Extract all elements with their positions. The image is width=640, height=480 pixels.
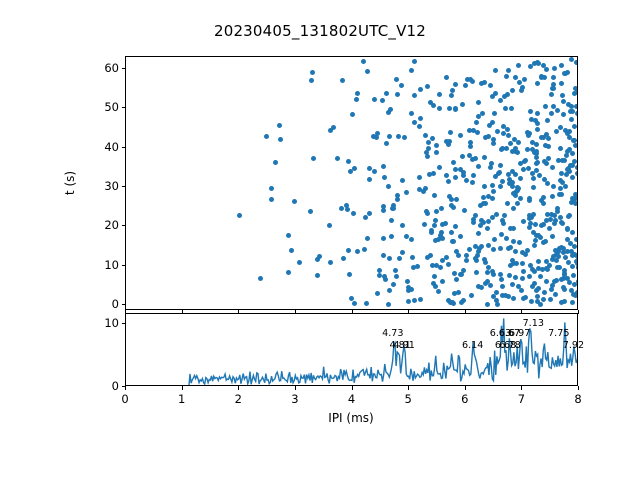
- scatter-point: [560, 180, 565, 185]
- scatter-point: [562, 287, 567, 292]
- scatter-point: [483, 135, 488, 140]
- scatter-point: [528, 109, 533, 114]
- scatter-point: [450, 88, 455, 93]
- y-tick-label: 60: [77, 61, 119, 75]
- scatter-point: [547, 226, 552, 231]
- scatter-point: [519, 288, 524, 293]
- scatter-point: [351, 211, 356, 216]
- scatter-point: [471, 217, 476, 222]
- scatter-point: [495, 129, 500, 134]
- scatter-point: [571, 273, 576, 278]
- scatter-point: [354, 97, 359, 102]
- scatter-point: [418, 116, 423, 121]
- scatter-point: [565, 237, 570, 242]
- scatter-point: [516, 63, 521, 68]
- scatter-point: [476, 284, 481, 289]
- scatter-point: [406, 299, 411, 304]
- scatter-point: [534, 161, 539, 166]
- scatter-point: [498, 184, 503, 189]
- scatter-point: [452, 271, 457, 276]
- x-tick-label: 0: [121, 392, 128, 406]
- scatter-point: [449, 230, 454, 235]
- scatter-point: [311, 156, 316, 161]
- scatter-point: [372, 97, 377, 102]
- scatter-point: [513, 75, 518, 80]
- scatter-point: [575, 165, 578, 170]
- scatter-point: [289, 248, 294, 253]
- scatter-point: [436, 289, 441, 294]
- scatter-point: [412, 120, 417, 125]
- scatter-point: [452, 291, 457, 296]
- scatter-point: [402, 135, 407, 140]
- scatter-point: [521, 219, 526, 224]
- scatter-point: [558, 215, 563, 220]
- scatter-point: [490, 183, 495, 188]
- x-tick-mark: [521, 386, 522, 390]
- peak-annotation-label: 7.75: [548, 329, 569, 339]
- scatter-point: [439, 230, 444, 235]
- scatter-point: [505, 92, 510, 97]
- scatter-point: [571, 292, 576, 297]
- scatter-y-axis-label: t (s): [63, 171, 77, 195]
- scatter-point: [381, 164, 386, 169]
- y-tick-label: 0: [77, 297, 119, 311]
- scatter-point: [576, 265, 578, 270]
- scatter-point: [570, 109, 575, 114]
- scatter-point: [437, 92, 442, 97]
- scatter-point: [559, 171, 564, 176]
- scatter-point: [406, 285, 411, 290]
- scatter-point: [491, 137, 496, 142]
- scatter-point: [572, 124, 577, 129]
- x-tick-mark: [295, 386, 296, 390]
- scatter-point: [344, 203, 349, 208]
- scatter-point: [534, 155, 539, 160]
- scatter-point: [570, 253, 575, 258]
- scatter-point: [554, 278, 559, 283]
- scatter-point: [485, 226, 490, 231]
- scatter-point: [286, 233, 291, 238]
- scatter-point: [485, 302, 490, 307]
- scatter-point: [538, 274, 543, 279]
- scatter-point: [469, 293, 474, 298]
- scatter-point: [510, 184, 515, 189]
- scatter-point: [549, 92, 554, 97]
- scatter-point: [384, 91, 389, 96]
- scatter-point: [575, 111, 579, 116]
- scatter-point: [400, 223, 405, 228]
- scatter-point: [273, 160, 278, 165]
- scatter-point: [520, 261, 525, 266]
- x-tick-mark: [578, 310, 579, 314]
- scatter-point: [394, 274, 399, 279]
- scatter-point: [464, 258, 469, 263]
- scatter-point: [550, 194, 555, 199]
- scatter-point: [453, 82, 458, 87]
- scatter-point: [562, 272, 567, 277]
- scatter-point: [347, 272, 352, 277]
- scatter-point: [528, 64, 533, 69]
- scatter-point: [460, 154, 465, 159]
- scatter-point: [443, 221, 448, 226]
- scatter-point: [553, 218, 558, 223]
- scatter-point: [569, 117, 574, 122]
- x-tick-mark: [408, 386, 409, 390]
- scatter-point: [434, 143, 439, 148]
- y-tick-mark: [122, 304, 126, 305]
- scatter-point: [536, 259, 541, 264]
- scatter-point: [470, 157, 475, 162]
- scatter-point: [440, 279, 445, 284]
- scatter-point: [463, 83, 468, 88]
- scatter-point: [545, 267, 550, 272]
- scatter-point: [534, 142, 539, 147]
- scatter-point: [570, 300, 575, 305]
- scatter-point: [286, 270, 291, 275]
- scatter-point: [346, 159, 351, 164]
- scatter-point: [237, 213, 242, 218]
- scatter-point: [494, 212, 499, 217]
- scatter-point: [570, 151, 575, 156]
- scatter-point: [410, 255, 415, 260]
- scatter-point: [490, 196, 495, 201]
- scatter-point: [536, 233, 541, 238]
- scatter-point: [508, 141, 513, 146]
- scatter-point: [381, 204, 386, 209]
- y-tick-mark: [122, 265, 126, 266]
- scatter-point: [297, 260, 302, 265]
- histogram-x-axis-label: IPI (ms): [328, 411, 373, 425]
- scatter-point: [546, 144, 551, 149]
- y-tick-mark: [122, 68, 126, 69]
- scatter-point: [395, 92, 400, 97]
- scatter-point: [532, 243, 537, 248]
- scatter-point: [497, 170, 502, 175]
- scatter-point: [315, 257, 320, 262]
- scatter-point: [500, 284, 505, 289]
- scatter-point: [533, 238, 538, 243]
- scatter-point: [310, 70, 315, 75]
- y-tick-mark: [122, 323, 126, 324]
- scatter-plot-axes: [125, 56, 578, 310]
- scatter-point: [478, 203, 483, 208]
- scatter-point: [549, 111, 554, 116]
- scatter-point: [521, 269, 526, 274]
- scatter-point: [459, 300, 464, 305]
- scatter-point: [278, 137, 283, 142]
- scatter-point: [462, 208, 467, 213]
- scatter-point: [470, 79, 475, 84]
- scatter-point: [464, 253, 469, 258]
- scatter-point: [509, 106, 514, 111]
- scatter-point: [258, 276, 263, 281]
- scatter-point: [434, 209, 439, 214]
- scatter-point: [521, 296, 526, 301]
- x-tick-label: 5: [404, 392, 411, 406]
- scatter-point: [372, 169, 377, 174]
- scatter-point: [474, 270, 479, 275]
- x-tick-mark: [578, 386, 579, 390]
- scatter-point: [477, 246, 482, 251]
- scatter-point: [434, 150, 439, 155]
- scatter-point: [526, 133, 531, 138]
- scatter-point: [418, 297, 423, 302]
- scatter-point: [269, 186, 274, 191]
- scatter-point: [518, 196, 523, 201]
- scatter-point: [399, 83, 404, 88]
- scatter-point: [446, 179, 451, 184]
- scatter-point: [534, 288, 539, 293]
- scatter-point: [548, 297, 553, 302]
- scatter-point: [550, 234, 555, 239]
- scatter-point: [315, 273, 320, 278]
- scatter-point: [503, 106, 508, 111]
- scatter-point: [386, 184, 391, 189]
- scatter-point: [562, 299, 567, 304]
- scatter-point: [511, 239, 516, 244]
- scatter-point: [387, 256, 392, 261]
- scatter-point: [448, 130, 453, 135]
- scatter-point: [574, 259, 578, 264]
- scatter-point: [526, 166, 531, 171]
- scatter-point: [437, 106, 442, 111]
- scatter-point: [446, 262, 451, 267]
- scatter-point: [362, 247, 367, 252]
- y-tick-label: 10: [77, 258, 119, 272]
- scatter-point: [464, 178, 469, 183]
- peak-annotation-label: 7.13: [523, 319, 544, 329]
- scatter-point: [364, 301, 369, 306]
- scatter-point: [531, 212, 536, 217]
- scatter-point: [328, 128, 333, 133]
- scatter-point: [490, 94, 495, 99]
- scatter-point: [432, 193, 437, 198]
- scatter-point: [508, 263, 513, 268]
- scatter-point: [438, 265, 443, 270]
- scatter-point: [375, 131, 380, 136]
- scatter-point: [439, 206, 444, 211]
- scatter-point: [490, 120, 495, 125]
- scatter-point: [522, 77, 527, 82]
- scatter-point: [551, 86, 556, 91]
- peak-annotation-label: 7.92: [563, 341, 584, 351]
- scatter-point: [448, 300, 453, 305]
- x-tick-mark: [125, 386, 126, 390]
- scatter-point: [537, 173, 542, 178]
- peak-annotation-label: 6.78: [499, 341, 520, 351]
- x-tick-label: 4: [348, 392, 355, 406]
- scatter-point: [400, 250, 405, 255]
- scatter-point: [554, 129, 559, 134]
- scatter-point: [431, 171, 436, 176]
- scatter-point: [482, 155, 487, 160]
- scatter-point: [346, 248, 351, 253]
- scatter-point: [541, 222, 546, 227]
- scatter-point: [514, 261, 519, 266]
- scatter-point: [417, 124, 422, 129]
- scatter-point: [572, 138, 577, 143]
- scatter-point: [335, 156, 340, 161]
- scatter-point: [382, 175, 387, 180]
- scatter-point: [412, 93, 417, 98]
- y-tick-mark: [122, 147, 126, 148]
- scatter-point: [566, 214, 571, 219]
- scatter-point: [444, 255, 449, 260]
- scatter-point: [505, 201, 510, 206]
- scatter-point: [559, 192, 564, 197]
- scatter-point: [499, 232, 504, 237]
- matplotlib-figure: 20230405_131802UTC_V12 0102030405060 t (…: [0, 0, 640, 480]
- scatter-point: [569, 57, 574, 62]
- scatter-point: [564, 153, 569, 158]
- scatter-point: [570, 230, 575, 235]
- scatter-point: [391, 282, 396, 287]
- scatter-point: [454, 197, 459, 202]
- scatter-point: [459, 272, 464, 277]
- scatter-point: [542, 75, 547, 80]
- scatter-point: [491, 272, 496, 277]
- scatter-point: [476, 164, 481, 169]
- scatter-point: [367, 211, 372, 216]
- scatter-point: [449, 93, 454, 98]
- scatter-point: [400, 178, 405, 183]
- x-tick-label: 7: [518, 392, 525, 406]
- scatter-point: [422, 222, 427, 227]
- scatter-point: [525, 248, 530, 253]
- scatter-point: [561, 112, 566, 117]
- scatter-point: [467, 247, 472, 252]
- scatter-point: [417, 175, 422, 180]
- scatter-point: [506, 68, 511, 73]
- peak-annotation-label: 6.97: [509, 329, 530, 339]
- scatter-point: [560, 93, 565, 98]
- scatter-point: [527, 274, 532, 279]
- scatter-point: [440, 236, 445, 241]
- y-tick-label: 10: [77, 316, 119, 330]
- scatter-point: [480, 111, 485, 116]
- scatter-point: [492, 111, 497, 116]
- scatter-point: [308, 209, 313, 214]
- scatter-point: [517, 240, 522, 245]
- x-tick-mark: [465, 386, 466, 390]
- y-tick-label: 40: [77, 140, 119, 154]
- scatter-point: [460, 102, 465, 107]
- scatter-point: [513, 172, 518, 177]
- scatter-point: [491, 189, 496, 194]
- x-tick-label: 3: [291, 392, 298, 406]
- scatter-point: [545, 118, 550, 123]
- scatter-point: [428, 253, 433, 258]
- scatter-point: [520, 276, 525, 281]
- scatter-point: [481, 220, 486, 225]
- scatter-point: [567, 129, 572, 134]
- scatter-point: [453, 175, 458, 180]
- scatter-point: [533, 222, 538, 227]
- y-tick-label: 50: [77, 100, 119, 114]
- scatter-point: [510, 88, 515, 93]
- scatter-point: [491, 247, 496, 252]
- scatter-point: [563, 71, 568, 76]
- peak-annotation-label: 4.91: [393, 341, 414, 351]
- scatter-point: [433, 218, 438, 223]
- scatter-point: [574, 195, 578, 200]
- scatter-point: [572, 159, 577, 164]
- scatter-point: [512, 137, 517, 142]
- scatter-point: [498, 272, 503, 277]
- scatter-point: [551, 184, 556, 189]
- scatter-point: [264, 134, 269, 139]
- y-tick-label: 30: [77, 179, 119, 193]
- scatter-point: [572, 244, 577, 249]
- scatter-point: [429, 228, 434, 233]
- x-tick-label: 6: [461, 392, 468, 406]
- scatter-point: [454, 277, 459, 282]
- scatter-point: [515, 201, 520, 206]
- scatter-point: [458, 234, 463, 239]
- scatter-point: [575, 171, 578, 176]
- scatter-point: [432, 274, 437, 279]
- scatter-point: [476, 231, 481, 236]
- scatter-point: [527, 196, 532, 201]
- y-tick-label: 20: [77, 218, 119, 232]
- scatter-point: [425, 84, 430, 89]
- scatter-point: [437, 165, 442, 170]
- scatter-point: [456, 253, 461, 258]
- scatter-point: [444, 173, 449, 178]
- scatter-point: [355, 249, 360, 254]
- scatter-point: [430, 263, 435, 268]
- scatter-point: [511, 206, 516, 211]
- scatter-point: [451, 160, 456, 165]
- scatter-point: [431, 103, 436, 108]
- scatter-point: [447, 106, 452, 111]
- scatter-point: [543, 104, 548, 109]
- scatter-point: [404, 190, 409, 195]
- scatter-point: [555, 206, 560, 211]
- scatter-point: [411, 265, 416, 270]
- scatter-point: [535, 111, 540, 116]
- scatter-point: [377, 268, 382, 273]
- scatter-point: [488, 283, 493, 288]
- scatter-point: [377, 273, 382, 278]
- scatter-point: [387, 134, 392, 139]
- scatter-point: [535, 127, 540, 132]
- scatter-point: [386, 302, 391, 307]
- scatter-point: [519, 88, 524, 93]
- scatter-point: [421, 189, 426, 194]
- scatter-point: [493, 68, 498, 73]
- scatter-point: [570, 264, 575, 269]
- scatter-point: [545, 212, 550, 217]
- scatter-point: [570, 175, 575, 180]
- scatter-point: [488, 83, 493, 88]
- scatter-point: [506, 133, 511, 138]
- scatter-point: [559, 63, 564, 68]
- scatter-point: [543, 239, 548, 244]
- scatter-point: [355, 91, 360, 96]
- scatter-point: [498, 246, 503, 251]
- scatter-point: [498, 163, 503, 168]
- scatter-point: [483, 281, 488, 286]
- scatter-point: [393, 268, 398, 273]
- scatter-point: [507, 273, 512, 278]
- scatter-point: [498, 98, 503, 103]
- scatter-point: [367, 177, 372, 182]
- scatter-point: [309, 78, 314, 83]
- scatter-point: [453, 107, 458, 112]
- scatter-point: [513, 193, 518, 198]
- scatter-point: [476, 100, 481, 105]
